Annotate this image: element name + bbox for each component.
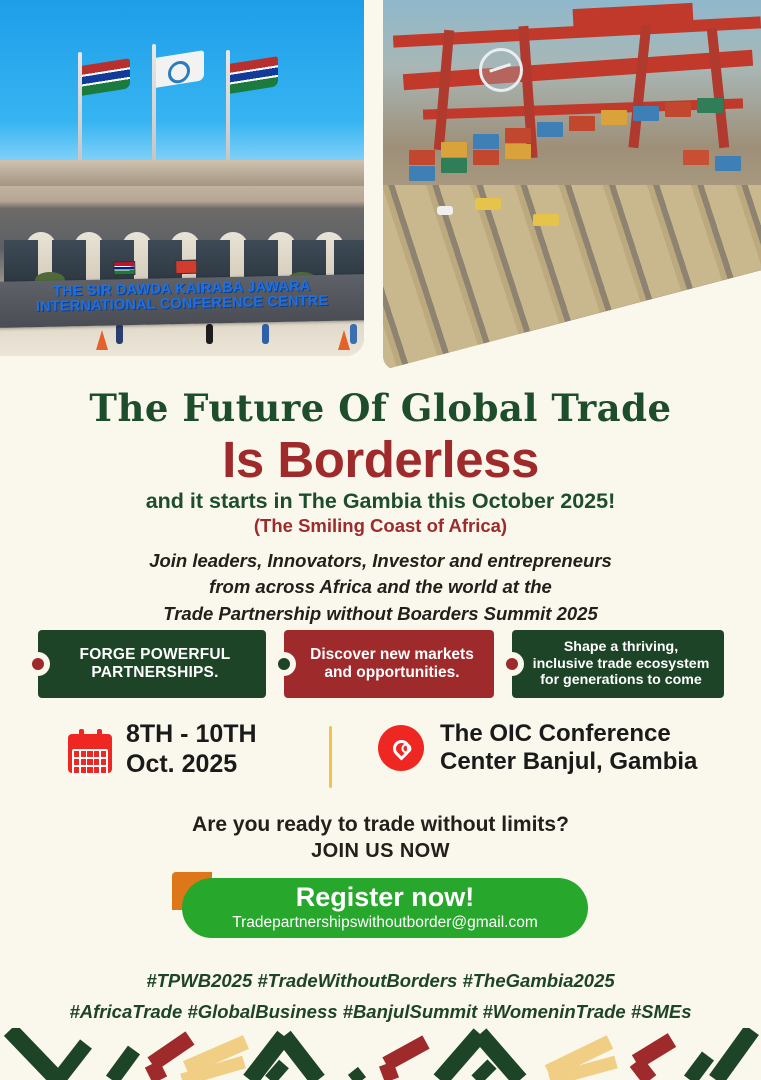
headline-subtitle: and it starts in The Gambia this October… [0, 489, 761, 514]
hashtag-block: #TPWB2025 #TradeWithoutBorders #TheGambi… [0, 966, 761, 1027]
badge-3-line2: inclusive trade ecosystem [533, 656, 710, 672]
location-pin-icon [378, 725, 424, 771]
port-truck [533, 214, 559, 226]
register-button-label: Register now! [296, 884, 475, 911]
badge-discover-markets: Discover new markets and opportunities. [284, 630, 494, 698]
hashtags-line1: #TPWB2025 #TradeWithoutBorders #TheGambi… [0, 966, 761, 997]
decorative-chevron-pattern [0, 1028, 761, 1080]
lead-paragraph: Join leaders, Innovators, Investor and e… [0, 548, 761, 627]
conference-centre-photo: THE SIR DAWDA KAIRABA JAWARA INTERNATION… [0, 0, 364, 356]
crane-logo-icon [479, 48, 523, 92]
port-truck [475, 198, 501, 210]
badge-1-line2: PARTNERSHIPS. [91, 664, 218, 681]
badge-bullet-icon [26, 652, 50, 676]
event-info-bar: 8TH - 10TH Oct. 2025 The OIC Conference … [0, 718, 761, 798]
photo-band: THE SIR DAWDA KAIRABA JAWARA INTERNATION… [0, 0, 761, 372]
organisation-flag [156, 50, 204, 88]
event-venue-block: The OIC Conference Center Banjul, Gambia [378, 720, 697, 777]
info-divider [329, 726, 332, 788]
event-date-block: 8TH - 10TH Oct. 2025 [68, 720, 257, 779]
register-button[interactable]: Register now! Tradepartnershipswithoutbo… [182, 878, 588, 938]
badge-bullet-icon [500, 652, 524, 676]
venue-banner: THE SIR DAWDA KAIRABA JAWARA INTERNATION… [0, 274, 364, 328]
gambia-flag [230, 56, 278, 94]
badge-3-line3: for generations to come [540, 672, 702, 688]
badge-1-line1: FORGE POWERFUL [80, 646, 231, 663]
gambia-mini-flag [113, 261, 135, 275]
value-badges: FORGE POWERFUL PARTNERSHIPS. Discover ne… [38, 630, 728, 698]
flyer-poster: THE SIR DAWDA KAIRABA JAWARA INTERNATION… [0, 0, 761, 1080]
badge-bullet-icon [272, 652, 296, 676]
event-venue-line2: Center Banjul, Gambia [440, 748, 697, 776]
headline-line2: Is Borderless [0, 430, 761, 489]
headline-tagline: (The Smiling Coast of Africa) [0, 515, 761, 537]
lead-line2: from across Africa and the world at the [0, 574, 761, 600]
register-cta[interactable]: Register now! Tradepartnershipswithoutbo… [172, 872, 588, 938]
hashtags-line2: #AfricaTrade #GlobalBusiness #BanjulSumm… [0, 997, 761, 1028]
event-venue-text: The OIC Conference Center Banjul, Gambia [440, 720, 697, 777]
event-date-text: 8TH - 10TH Oct. 2025 [126, 720, 257, 779]
event-date-line2: Oct. 2025 [126, 750, 257, 780]
lead-line3: Trade Partnership without Boarders Summi… [0, 601, 761, 627]
badge-forge-partnerships: FORGE POWERFUL PARTNERSHIPS. [38, 630, 266, 698]
badge-2-line2: and opportunities. [324, 664, 459, 681]
cta-question: Are you ready to trade without limits? [0, 813, 761, 837]
event-date-line1: 8TH - 10TH [126, 720, 257, 750]
badge-2-line1: Discover new markets [310, 646, 474, 663]
event-venue-line1: The OIC Conference [440, 720, 697, 748]
lead-line1: Join leaders, Innovators, Investor and e… [0, 548, 761, 574]
port-car [437, 206, 453, 215]
calendar-icon [68, 727, 112, 773]
gambia-flag [82, 58, 130, 96]
port-containers-photo [383, 0, 761, 370]
register-email[interactable]: Tradepartnershipswithoutborder@gmail.com [232, 914, 538, 932]
headline-line1: The Future Of Global Trade [0, 386, 761, 430]
cta-join-text: JOIN US NOW [0, 840, 761, 863]
badge-3-line1: Shape a thriving, [564, 639, 678, 655]
partner-mini-flag [175, 260, 197, 274]
badge-shape-ecosystem: Shape a thriving, inclusive trade ecosys… [512, 630, 724, 698]
